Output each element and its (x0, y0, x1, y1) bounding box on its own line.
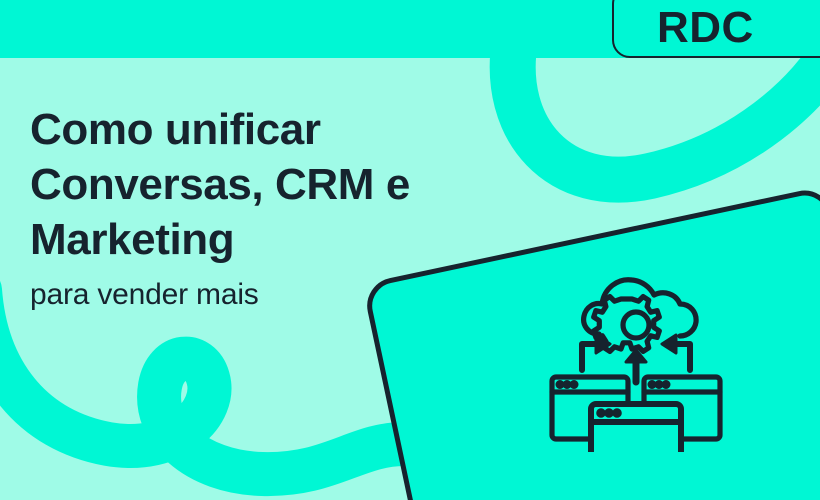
headline-line-2: Conversas, CRM e (30, 157, 500, 212)
headline-subtitle: para vender mais (30, 275, 259, 315)
headline-block: Como unificar Conversas, CRM e Marketing (30, 102, 500, 267)
rdc-badge-label: RDC (657, 2, 754, 54)
cloud-gear-integration-icon (536, 252, 736, 452)
headline-line-3: Marketing (30, 212, 500, 267)
headline-line-1: Como unificar (30, 102, 500, 157)
webinar-banner: WEBINAR RDC Como unificar Conversas, CRM… (0, 0, 820, 500)
arrow-right-icon (662, 335, 690, 370)
browser-window-center (591, 404, 681, 452)
arrow-left-icon (582, 335, 610, 370)
